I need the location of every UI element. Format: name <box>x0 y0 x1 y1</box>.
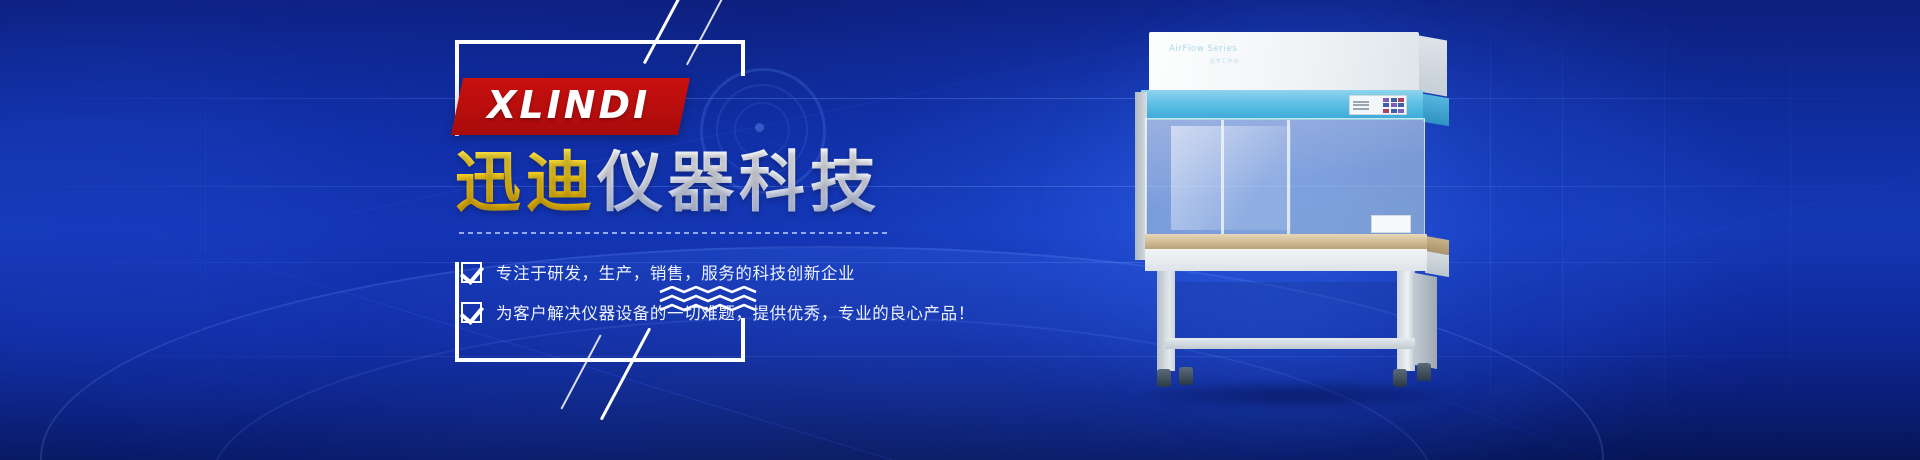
control-panel-labels <box>1352 99 1383 111</box>
frame-top-horizontal <box>455 40 745 44</box>
sash-mullion <box>1287 120 1290 236</box>
brand-logo-badge: XLINDI <box>451 78 690 135</box>
slash-accent-1 <box>643 0 680 64</box>
cabinet-top-front <box>1149 32 1419 92</box>
list-item: 为客户解决仪器设备的一切难题，提供优秀，专业的良心产品！ <box>461 300 1075 324</box>
bullet-text: 专注于研发，生产，销售，服务的科技创新企业 <box>496 260 855 284</box>
banner-content: XLINDI 迅迪仪器科技 专注于研发，生产，销售，服务的科技创新企业 为客户解… <box>455 78 1075 340</box>
caster-wheel <box>1157 369 1171 387</box>
panel-button[interactable] <box>1383 98 1389 102</box>
glow-blob-left <box>0 60 340 400</box>
headline-white-part: 仪器科技 <box>597 144 881 221</box>
product-brand-label: AirFlow Series <box>1169 44 1237 54</box>
panel-button[interactable] <box>1391 98 1397 102</box>
headline-yellow-part: 迅迪 <box>455 144 597 221</box>
panel-button[interactable] <box>1383 103 1389 107</box>
sash-mullion <box>1221 120 1224 236</box>
product-ground-shadow <box>1141 382 1451 408</box>
product-sticker <box>1371 215 1411 233</box>
panel-button[interactable] <box>1398 103 1404 107</box>
frame-top-right-vertical <box>741 40 745 76</box>
scanline-4 <box>0 356 1920 357</box>
slash-accent-3 <box>560 334 601 409</box>
panel-button[interactable] <box>1391 109 1397 113</box>
caster-wheel <box>1417 363 1431 381</box>
stand-right-leg <box>1397 271 1415 371</box>
control-panel[interactable] <box>1349 95 1407 115</box>
grid-column-2 <box>1562 0 1563 460</box>
frame-bottom-horizontal <box>455 358 745 362</box>
panel-button[interactable] <box>1383 109 1389 113</box>
stand-back-leg <box>1415 273 1437 369</box>
brand-logo-text: XLINDI <box>487 86 650 126</box>
slash-accent-2 <box>686 0 728 65</box>
promo-banner: XLINDI 迅迪仪器科技 专注于研发，生产，销售，服务的科技创新企业 为客户解… <box>0 0 1920 460</box>
lower-front-side <box>1425 251 1449 277</box>
list-item: 专注于研发，生产，销售，服务的科技创新企业 <box>461 260 1075 284</box>
grid-column-4 <box>1790 0 1791 460</box>
panel-label-line <box>1353 108 1369 110</box>
stand-bottom-rail <box>1165 338 1415 349</box>
slash-accent-4 <box>600 327 651 420</box>
product-brand-sublabel: 洁净工作台 <box>1209 57 1239 65</box>
panel-button[interactable] <box>1398 109 1404 113</box>
panel-label-line <box>1353 104 1369 106</box>
panel-button[interactable] <box>1398 98 1404 102</box>
check-icon <box>461 262 482 283</box>
caster-wheel <box>1179 367 1193 385</box>
feature-bullet-list: 专注于研发，生产，销售，服务的科技创新企业 为客户解决仪器设备的一切难题，提供优… <box>461 260 1075 324</box>
stand-recess-shadow <box>1175 282 1405 340</box>
dotted-divider <box>459 232 889 234</box>
panel-button[interactable] <box>1391 103 1397 107</box>
glass-sash-glare <box>1171 126 1291 230</box>
page-title: 迅迪仪器科技 <box>455 147 1075 218</box>
lower-front-panel <box>1145 249 1427 271</box>
grid-column-3 <box>1664 0 1665 460</box>
panel-label-line <box>1353 101 1369 103</box>
check-icon <box>461 302 482 323</box>
bullet-text: 为客户解决仪器设备的一切难题，提供优秀，专业的良心产品！ <box>496 300 975 324</box>
grid-column-5 <box>205 0 206 460</box>
control-panel-buttons[interactable] <box>1383 98 1404 113</box>
product-image-clean-bench: AirFlow Series 洁净工作台 <box>1135 30 1465 430</box>
work-surface <box>1145 234 1427 250</box>
cabinet-top-side <box>1419 36 1447 97</box>
blue-band-side <box>1423 94 1449 127</box>
stand-left-leg <box>1157 271 1175 371</box>
